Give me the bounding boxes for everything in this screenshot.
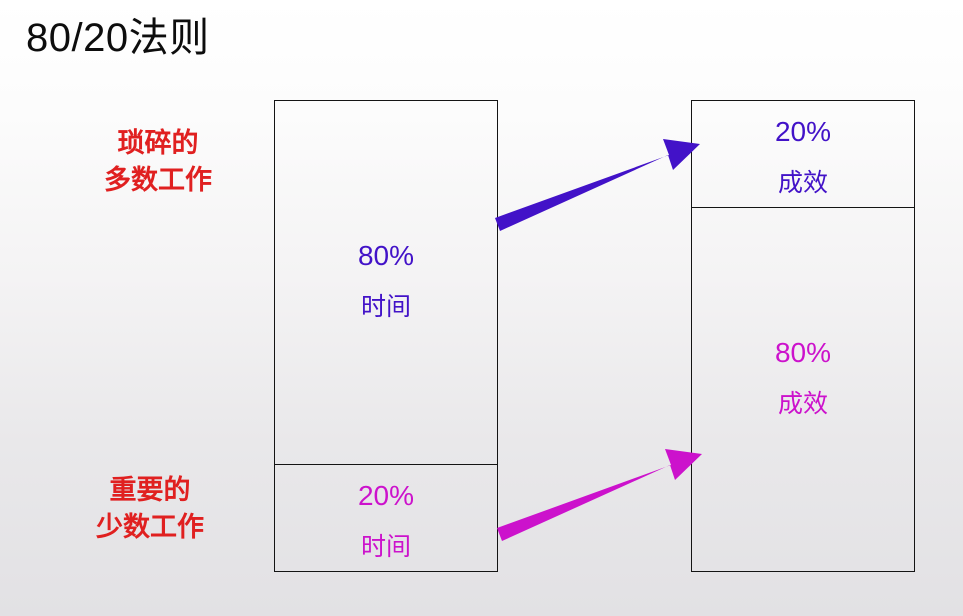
time-cell-20-percent: 20%	[274, 478, 498, 514]
result-box-divider	[691, 207, 915, 208]
caption-majority-line2: 多数工作	[60, 162, 256, 199]
time-cell-80-label: 时间	[274, 290, 498, 324]
result-cell-20-label: 成效	[691, 166, 915, 200]
caption-minority-line1: 重要的	[52, 472, 248, 509]
slide-canvas: 80/20法则 琐碎的 多数工作 重要的 少数工作 80% 时间 20% 时间 …	[0, 0, 963, 616]
caption-minority-line2: 少数工作	[52, 509, 248, 546]
arrow-majority-to-small-result-icon	[495, 139, 700, 231]
time-box-divider	[274, 464, 498, 465]
arrow-minority-to-large-result-icon	[497, 449, 702, 541]
caption-minority-work: 重要的 少数工作	[52, 472, 248, 546]
caption-majority-work: 琐碎的 多数工作	[60, 125, 256, 199]
result-cell-20-percent: 20%	[691, 114, 915, 150]
time-cell-20-label: 时间	[274, 530, 498, 564]
time-cell-80: 80% 时间	[274, 238, 498, 324]
time-cell-20: 20% 时间	[274, 478, 498, 564]
result-cell-80-label: 成效	[691, 387, 915, 421]
time-cell-80-percent: 80%	[274, 238, 498, 274]
page-title: 80/20法则	[26, 13, 210, 63]
result-cell-20: 20% 成效	[691, 114, 915, 200]
result-cell-80-percent: 80%	[691, 335, 915, 371]
result-cell-80: 80% 成效	[691, 335, 915, 421]
caption-majority-line1: 琐碎的	[60, 125, 256, 162]
